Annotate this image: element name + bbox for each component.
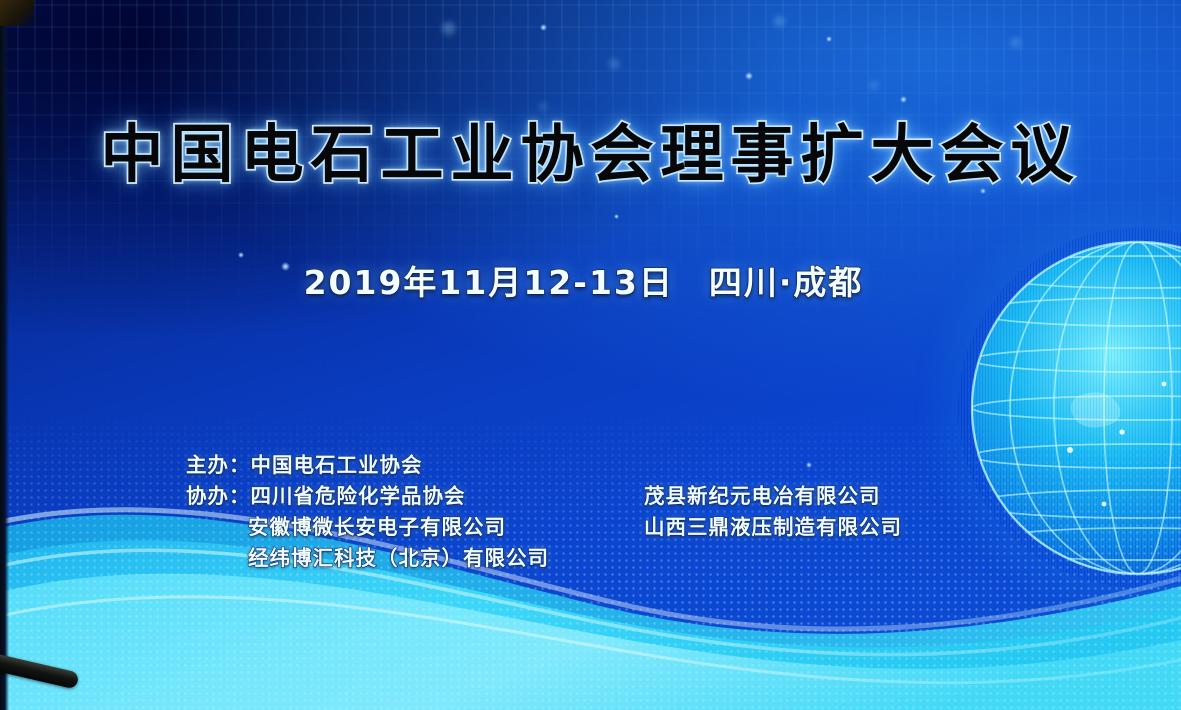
presentation-slide: 中国电石工业协会理事扩大会议 2019年11月12-13日 四川·成都 主办：中… xyxy=(0,0,1181,710)
credit-right-text: 茂县新纪元电冶有限公司 xyxy=(644,481,881,512)
event-date-venue: 2019年11月12-13日 四川·成都 xyxy=(0,256,1181,304)
credit-left-text: 经纬博汇科技（北京）有限公司 xyxy=(248,543,549,574)
credit-row: 安徽博微长安电子有限公司 山西三鼎液压制造有限公司 xyxy=(186,512,1046,543)
screen-corner-highlight xyxy=(0,0,34,26)
credit-left-text: 主办：中国电石工业协会 xyxy=(186,450,423,481)
page-title: 中国电石工业协会理事扩大会议 xyxy=(0,104,1181,195)
credit-right-text: 山西三鼎液压制造有限公司 xyxy=(644,512,902,543)
organizer-credits: 主办：中国电石工业协会 协办：四川省危险化学品协会 茂县新纪元电冶有限公司 安徽… xyxy=(186,450,1046,574)
credit-left-text: 安徽博微长安电子有限公司 xyxy=(248,512,506,543)
credit-row: 主办：中国电石工业协会 xyxy=(186,450,1046,481)
credit-row: 协办：四川省危险化学品协会 茂县新纪元电冶有限公司 xyxy=(186,481,1046,512)
credit-row: 经纬博汇科技（北京）有限公司 xyxy=(186,543,1046,574)
credit-left-text: 协办：四川省危险化学品协会 xyxy=(186,481,466,512)
